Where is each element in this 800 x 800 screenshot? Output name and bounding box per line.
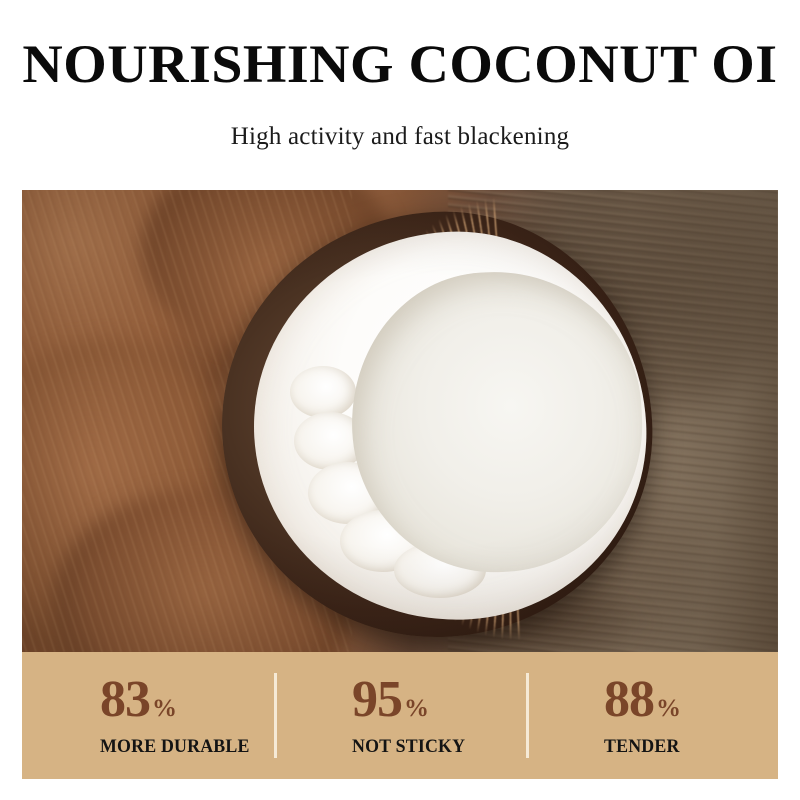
- hero-photo: [22, 190, 778, 652]
- percent-symbol: %: [404, 696, 429, 721]
- stat-value: 88 %: [604, 674, 778, 726]
- stat-item-more-durable: 83 % MORE DURABLE: [22, 652, 274, 779]
- stat-number: 95: [352, 674, 402, 726]
- stat-value: 95 %: [352, 674, 526, 726]
- stat-item-tender: 88 % TENDER: [526, 652, 778, 779]
- stats-band: 83 % MORE DURABLE 95 % NOT STICKY 88 % T…: [22, 652, 778, 779]
- page-subtitle: High activity and fast blackening: [0, 121, 800, 153]
- coconut-flesh-lobe: [290, 366, 356, 418]
- stat-label: TENDER: [604, 736, 768, 758]
- stat-label: NOT STICKY: [352, 736, 516, 758]
- page-title: NOURISHING COCONUT OI: [0, 33, 800, 95]
- percent-symbol: %: [656, 696, 681, 721]
- stat-value: 83 %: [100, 674, 274, 726]
- stat-number: 88: [604, 674, 654, 726]
- percent-symbol: %: [152, 696, 177, 721]
- banner-header: NOURISHING COCONUT OI High activity and …: [0, 0, 800, 182]
- stat-label: MORE DURABLE: [100, 736, 264, 758]
- stat-number: 83: [100, 674, 150, 726]
- stat-item-not-sticky: 95 % NOT STICKY: [274, 652, 526, 779]
- product-banner: NOURISHING COCONUT OI High activity and …: [0, 0, 800, 800]
